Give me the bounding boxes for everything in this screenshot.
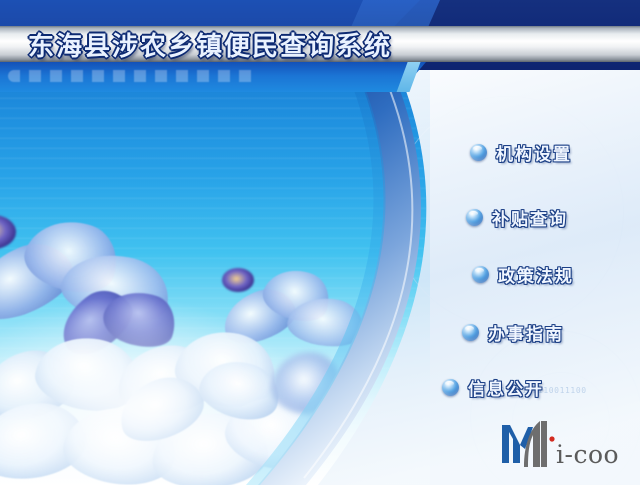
application-window: 0100101110011100 东海县涉农乡镇便民查询系统 机构设置 补贴查询… [0,0,640,485]
logo-wordmark: i-coo [556,440,619,469]
menu-item-information-disclosure[interactable]: 信息公开 [442,375,544,400]
stylized-m-logo-icon [500,415,562,471]
blue-orb-bullet-icon [466,209,483,226]
menu-item-label: 机构设置 [496,140,572,165]
header-band-fill [0,62,426,92]
menu-item-organization[interactable]: 机构设置 [470,140,572,165]
brand-logo: i-coo [500,415,619,471]
blue-orb-bullet-icon [470,144,487,161]
header-blue-band [0,62,640,92]
menu-item-label: 信息公开 [468,375,544,400]
header-bar: 东海县涉农乡镇便民查询系统 [0,0,640,70]
menu-item-label: 补贴查询 [492,205,568,230]
menu-item-subsidy-query[interactable]: 补贴查询 [466,205,568,230]
blue-orb-bullet-icon [442,379,459,396]
menu-item-policy-regulations[interactable]: 政策法规 [472,262,574,287]
menu-item-label: 办事指南 [488,320,564,345]
header-dot-pattern [8,70,258,82]
blue-orb-bullet-icon [462,324,479,341]
menu-item-label: 政策法规 [498,262,574,287]
menu-item-service-guide[interactable]: 办事指南 [462,320,564,345]
blue-orb-bullet-icon [472,266,489,283]
page-title: 东海县涉农乡镇便民查询系统 [28,26,392,62]
